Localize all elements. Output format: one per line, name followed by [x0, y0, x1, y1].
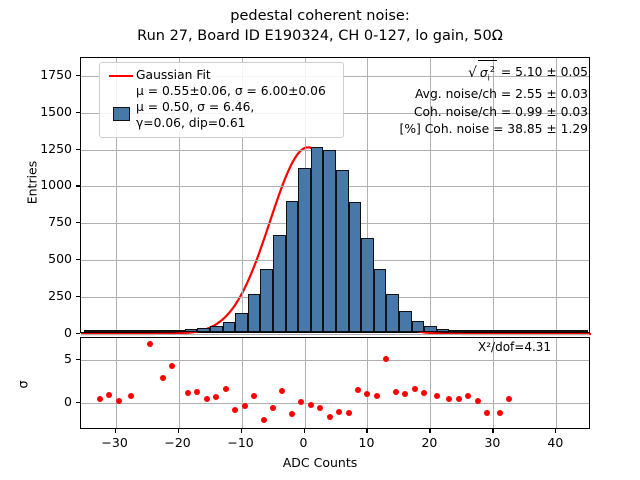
- legend-line-swatch: [106, 68, 136, 77]
- residual-point: [364, 391, 370, 397]
- stat-label-avg-noise: Avg. noise/ch: [415, 87, 497, 101]
- y-axis-tick-label: 1000: [14, 177, 72, 192]
- plot-legend: Gaussian Fit μ = 0.55±0.06, σ = 6.00±0.0…: [99, 62, 344, 138]
- histogram-bar: [109, 330, 122, 332]
- residual-point: [261, 417, 267, 423]
- histogram-bar: [210, 326, 223, 332]
- residual-point: [412, 386, 418, 392]
- y-axis-tick-mark: [76, 75, 80, 76]
- residual-gridline-vertical: [242, 338, 243, 428]
- figure-title-line1: pedestal coherent noise:: [0, 8, 640, 24]
- residual-point: [506, 396, 512, 402]
- histogram-bar: [487, 330, 500, 332]
- residual-point: [232, 407, 238, 413]
- y-axis-tick-mark: [76, 296, 80, 297]
- residual-gridline-vertical: [116, 338, 117, 428]
- stat-value-coh-noise: = 0.99 ± 0.03: [501, 105, 588, 119]
- x-axis-tick-label: 40: [530, 435, 580, 450]
- figure-canvas: pedestal coherent noise: Run 27, Board I…: [0, 0, 640, 480]
- histogram-bar: [412, 321, 425, 332]
- histogram-bar: [361, 238, 374, 332]
- legend-hist-params-1: μ = 0.50, σ = 6.46,: [136, 100, 254, 114]
- stat-value-coh-percent: = 38.85 ± 1.29: [493, 122, 588, 136]
- x-axis-tick-label: −30: [90, 435, 140, 450]
- gridline-horizontal: [81, 334, 589, 335]
- x-axis-tick-mark: [492, 429, 493, 433]
- residual-point: [106, 392, 112, 398]
- x-axis-label: ADC Counts: [0, 455, 640, 470]
- x-axis-tick-mark: [178, 429, 179, 433]
- residual-gridline-vertical: [305, 338, 306, 428]
- residual-point: [327, 414, 333, 420]
- residual-point: [497, 410, 503, 416]
- residual-point: [128, 393, 134, 399]
- histogram-bar: [399, 311, 412, 332]
- histogram-bar: [462, 330, 475, 332]
- x-axis-tick-label: −10: [216, 435, 266, 450]
- residual-point: [223, 386, 229, 392]
- y-axis-tick-mark: [76, 185, 80, 186]
- histogram-bar: [160, 330, 173, 332]
- histogram-bar: [575, 330, 588, 332]
- sqrt-icon: √: [468, 65, 477, 83]
- stat-label-coh-noise: Coh. noise/ch: [414, 105, 497, 119]
- residual-point: [289, 411, 295, 417]
- histogram-bar: [349, 202, 362, 332]
- histogram-bar: [235, 313, 248, 332]
- histogram-bar: [500, 330, 513, 332]
- residual-point: [475, 398, 481, 404]
- residual-y-axis-tick-mark: [76, 402, 80, 403]
- x-axis-tick-mark: [304, 429, 305, 433]
- histogram-bar: [248, 294, 261, 332]
- x-axis-tick-label: 10: [341, 435, 391, 450]
- residual-gridline-horizontal: [81, 403, 589, 404]
- y-axis-tick-mark: [76, 149, 80, 150]
- y-axis-tick-mark: [76, 222, 80, 223]
- residual-gridline-vertical: [367, 338, 368, 428]
- residual-point: [279, 388, 285, 394]
- stat-row-avg-noise: Avg. noise/ch = 2.55 ± 0.03: [400, 86, 588, 104]
- residual-point: [116, 398, 122, 404]
- histogram-bar: [122, 330, 135, 332]
- histogram-bar: [197, 328, 210, 332]
- y-axis-tick-mark: [76, 333, 80, 334]
- histogram-bar: [475, 330, 488, 332]
- residual-y-axis-tick-label: 0: [14, 394, 72, 409]
- residual-point: [465, 393, 471, 399]
- residual-point: [160, 375, 166, 381]
- histogram-bar: [172, 330, 185, 332]
- residual-point: [402, 391, 408, 397]
- stats-annotation-box: √σi2 = 5.10 ± 0.05 Avg. noise/ch = 2.55 …: [400, 59, 588, 139]
- residual-point: [242, 403, 248, 409]
- histogram-bar: [273, 235, 286, 332]
- y-axis-tick-mark: [76, 112, 80, 113]
- residual-point: [298, 399, 304, 405]
- residual-point: [270, 405, 276, 411]
- residual-y-axis-tick-mark: [76, 359, 80, 360]
- histogram-bar: [298, 168, 311, 332]
- histogram-bar: [323, 150, 336, 332]
- stat-row-coh-percent: [%] Coh. noise = 38.85 ± 1.29: [400, 121, 588, 139]
- y-axis-tick-label: 1250: [14, 141, 72, 156]
- residual-gridline-horizontal: [81, 360, 589, 361]
- histogram-bar: [537, 330, 550, 332]
- x-axis-tick-mark: [555, 429, 556, 433]
- residual-point: [446, 396, 452, 402]
- x-axis-tick-label: −20: [153, 435, 203, 450]
- legend-entry-hist: μ = 0.50, σ = 6.46, γ=0.06, dip=0.61: [106, 100, 337, 131]
- residual-point: [147, 341, 153, 347]
- histogram-bar: [512, 330, 525, 332]
- x-axis-tick-mark: [115, 429, 116, 433]
- stat-row-coh-noise: Coh. noise/ch = 0.99 ± 0.03: [400, 104, 588, 122]
- histogram-bar: [374, 269, 387, 332]
- histogram-bar: [386, 294, 399, 332]
- legend-hist-params-2: γ=0.06, dip=0.61: [136, 116, 246, 130]
- histogram-bar: [550, 330, 563, 332]
- x-axis-tick-mark: [241, 429, 242, 433]
- histogram-bar: [424, 326, 437, 332]
- x-axis-tick-label: 0: [279, 435, 329, 450]
- residual-point: [308, 402, 314, 408]
- legend-patch-swatch: [106, 100, 136, 121]
- histogram-bar: [97, 330, 110, 332]
- residual-point: [194, 389, 200, 395]
- x-axis-tick-mark: [366, 429, 367, 433]
- residual-point: [213, 394, 219, 400]
- stat-row-sqrt-sigma: √σi2 = 5.10 ± 0.05: [400, 59, 588, 86]
- y-axis-tick-label: 500: [14, 251, 72, 266]
- y-axis-tick-label: 1500: [14, 104, 72, 119]
- histogram-bar: [449, 330, 462, 332]
- chi2-annotation: X²/dof=4.31: [478, 340, 551, 354]
- residual-point: [185, 390, 191, 396]
- residual-point: [383, 356, 389, 362]
- histogram-bar: [311, 147, 324, 332]
- histogram-bar: [437, 329, 450, 332]
- residual-point: [336, 409, 342, 415]
- residual-point: [393, 389, 399, 395]
- residual-point: [97, 396, 103, 402]
- residual-gridline-vertical: [556, 338, 557, 428]
- histogram-bar: [525, 330, 538, 332]
- y-axis-tick-label: 0: [14, 325, 72, 340]
- residual-point: [434, 393, 440, 399]
- residual-gridline-vertical: [179, 338, 180, 428]
- residual-point: [317, 405, 323, 411]
- residual-point: [421, 390, 427, 396]
- x-axis-tick-label: 30: [467, 435, 517, 450]
- residual-point: [374, 393, 380, 399]
- residual-point: [251, 393, 257, 399]
- residual-point: [484, 410, 490, 416]
- histogram-bar: [147, 330, 160, 332]
- residual-point: [346, 410, 352, 416]
- residual-gridline-vertical: [430, 338, 431, 428]
- x-axis-tick-label: 20: [404, 435, 454, 450]
- histogram-bar: [185, 329, 198, 332]
- legend-entry-fit: Gaussian Fit μ = 0.55±0.06, σ = 6.00±0.0…: [106, 68, 337, 99]
- residual-point: [456, 396, 462, 402]
- y-axis-tick-label: 1750: [14, 67, 72, 82]
- residual-point: [169, 363, 175, 369]
- histogram-bar: [260, 269, 273, 332]
- legend-fit-label: Gaussian Fit: [136, 68, 211, 82]
- residual-point: [204, 396, 210, 402]
- histogram-bar: [563, 330, 576, 332]
- x-axis-tick-mark: [429, 429, 430, 433]
- residual-point: [355, 387, 361, 393]
- legend-fit-params: μ = 0.55±0.06, σ = 6.00±0.06: [136, 84, 326, 98]
- histogram-bar: [223, 322, 236, 332]
- y-axis-tick-label: 750: [14, 214, 72, 229]
- histogram-bar: [286, 201, 299, 332]
- stat-value-avg-noise: = 2.55 ± 0.03: [501, 87, 588, 101]
- stat-label-sqrt-sigma: σi2: [478, 60, 497, 87]
- histogram-bar: [135, 330, 148, 332]
- stat-label-coh-percent: [%] Coh. noise: [400, 122, 490, 136]
- figure-title-line2: Run 27, Board ID E190324, CH 0-127, lo g…: [0, 28, 640, 44]
- histogram-bar: [84, 330, 97, 332]
- y-axis-tick-label: 250: [14, 288, 72, 303]
- residual-y-axis-tick-label: 5: [14, 351, 72, 366]
- histogram-bar: [336, 170, 349, 332]
- stat-value-sqrt-sigma: = 5.10 ± 0.05: [501, 65, 588, 79]
- y-axis-tick-mark: [76, 259, 80, 260]
